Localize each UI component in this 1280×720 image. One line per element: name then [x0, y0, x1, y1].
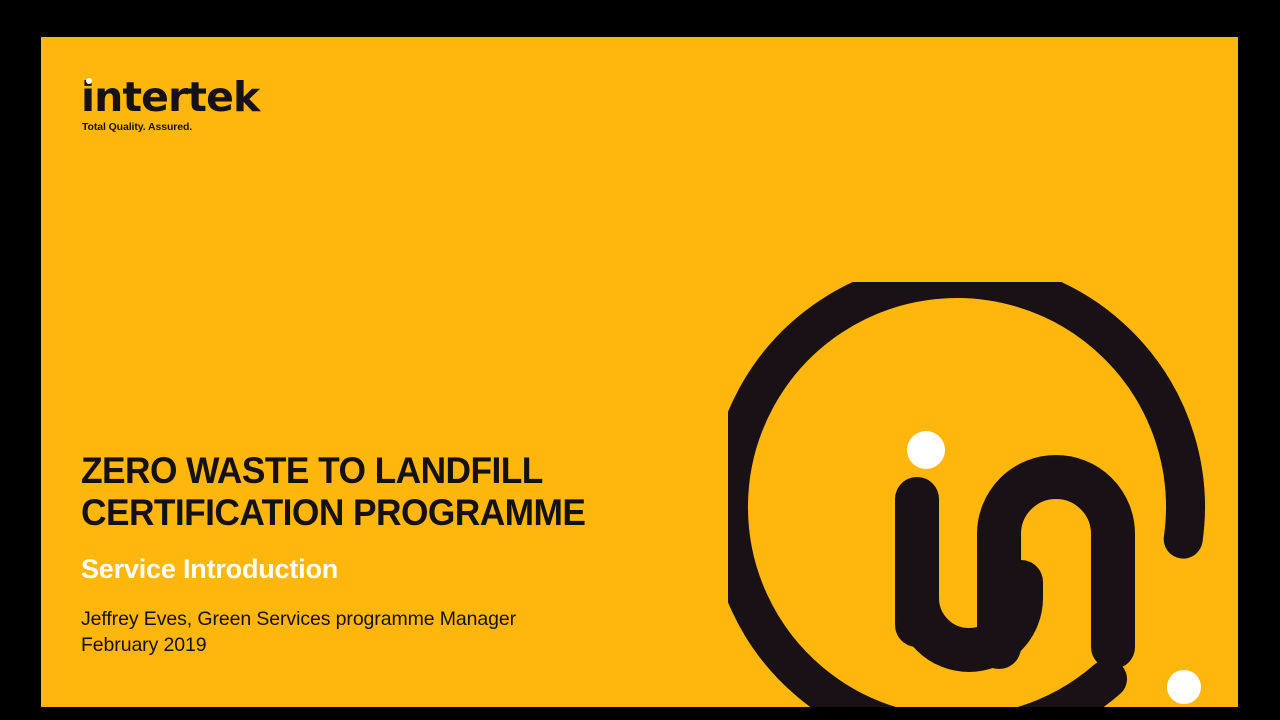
intertek-in-logomark [728, 282, 1208, 707]
letter-n-icon [999, 477, 1113, 647]
gap-dot-icon [1167, 670, 1201, 704]
byline-block: Jeffrey Eves, Green Services programme M… [81, 607, 761, 658]
title-line-2: CERTIFICATION PROGRAMME [81, 492, 730, 534]
intertek-i-dot-icon [86, 78, 92, 84]
tittle-dot-icon [907, 431, 945, 469]
intertek-brand-logo: intertek Total Quality. Assured. [81, 75, 341, 155]
byline-date: February 2019 [81, 633, 761, 659]
page-title: ZERO WASTE TO LANDFILL CERTIFICATION PRO… [81, 450, 761, 534]
intertek-wordmark: intertek [81, 75, 259, 119]
byline-presenter: Jeffrey Eves, Green Services programme M… [81, 607, 761, 633]
slide-stage: intertek Total Quality. Assured. [0, 0, 1280, 720]
title-block: ZERO WASTE TO LANDFILL CERTIFICATION PRO… [81, 450, 761, 658]
slide-canvas: intertek Total Quality. Assured. [41, 37, 1238, 707]
page-subtitle: Service Introduction [81, 552, 761, 586]
title-line-1: ZERO WASTE TO LANDFILL [81, 450, 730, 492]
intertek-tagline: Total Quality. Assured. [82, 121, 192, 134]
